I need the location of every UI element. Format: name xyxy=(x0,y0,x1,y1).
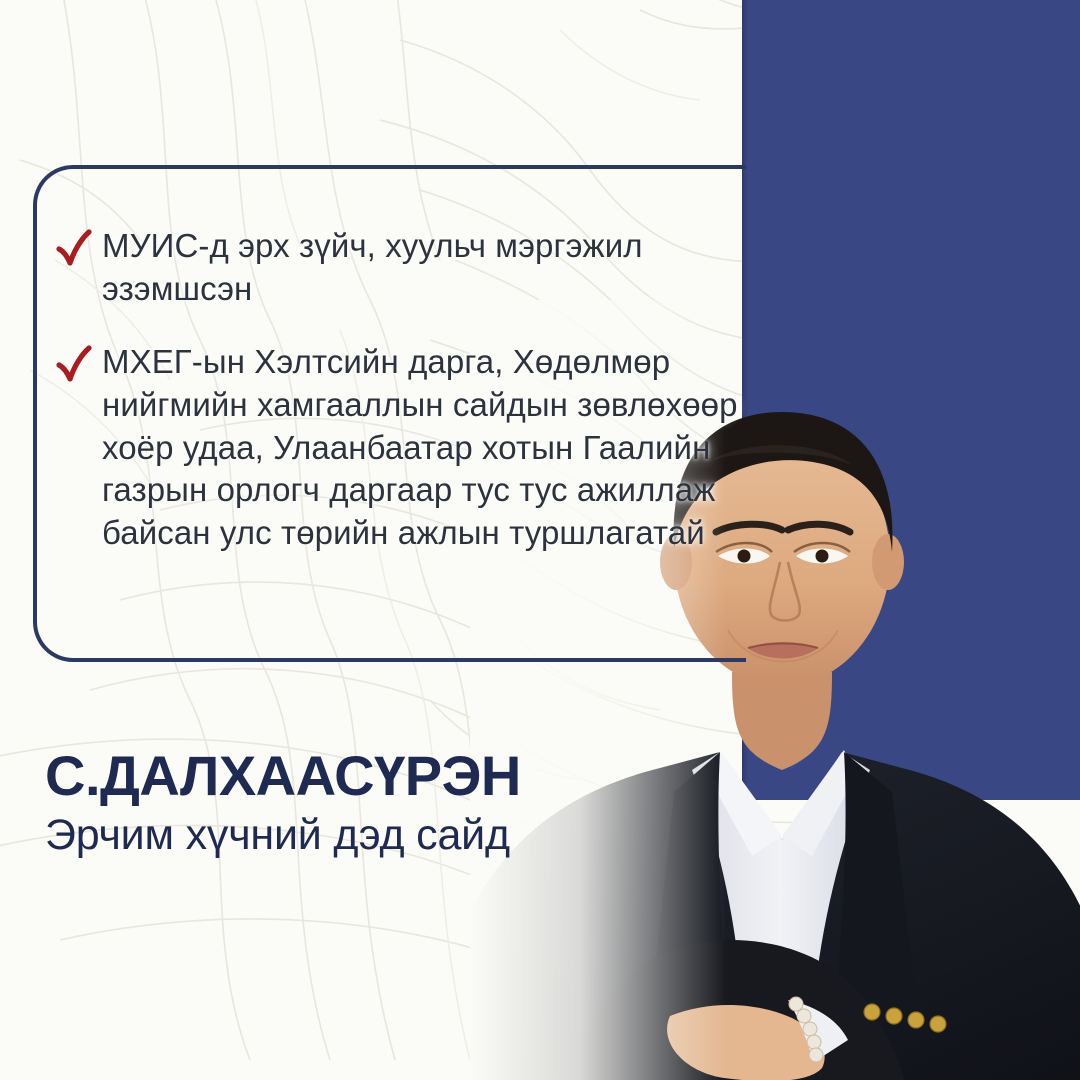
person-role: Эрчим хүчний дэд сайд xyxy=(45,812,521,859)
check-icon xyxy=(56,229,98,269)
list-item: МХЕГ-ын Хэлтсийн дарга, Хөдөлмөр нийгмий… xyxy=(56,341,746,555)
card-bottom-border-extension xyxy=(700,658,746,662)
check-icon xyxy=(56,345,98,385)
list-item: МУИС-д эрх зүйч, хуульч мэргэжил эзэмшсэ… xyxy=(56,225,746,311)
poster-canvas: МУИС-д эрх зүйч, хуульч мэргэжил эзэмшсэ… xyxy=(0,0,1080,1080)
list-item-label: МУИС-д эрх зүйч, хуульч мэргэжил эзэмшсэ… xyxy=(102,225,746,311)
credentials-list: МУИС-д эрх зүйч, хуульч мэргэжил эзэмшсэ… xyxy=(56,225,746,585)
identity-block: С.ДАЛХААСҮРЭН Эрчим хүчний дэд сайд xyxy=(45,748,521,859)
person-name: С.ДАЛХААСҮРЭН xyxy=(45,748,521,804)
card-top-border-extension xyxy=(700,165,746,169)
list-item-label: МХЕГ-ын Хэлтсийн дарга, Хөдөлмөр нийгмий… xyxy=(102,341,746,555)
